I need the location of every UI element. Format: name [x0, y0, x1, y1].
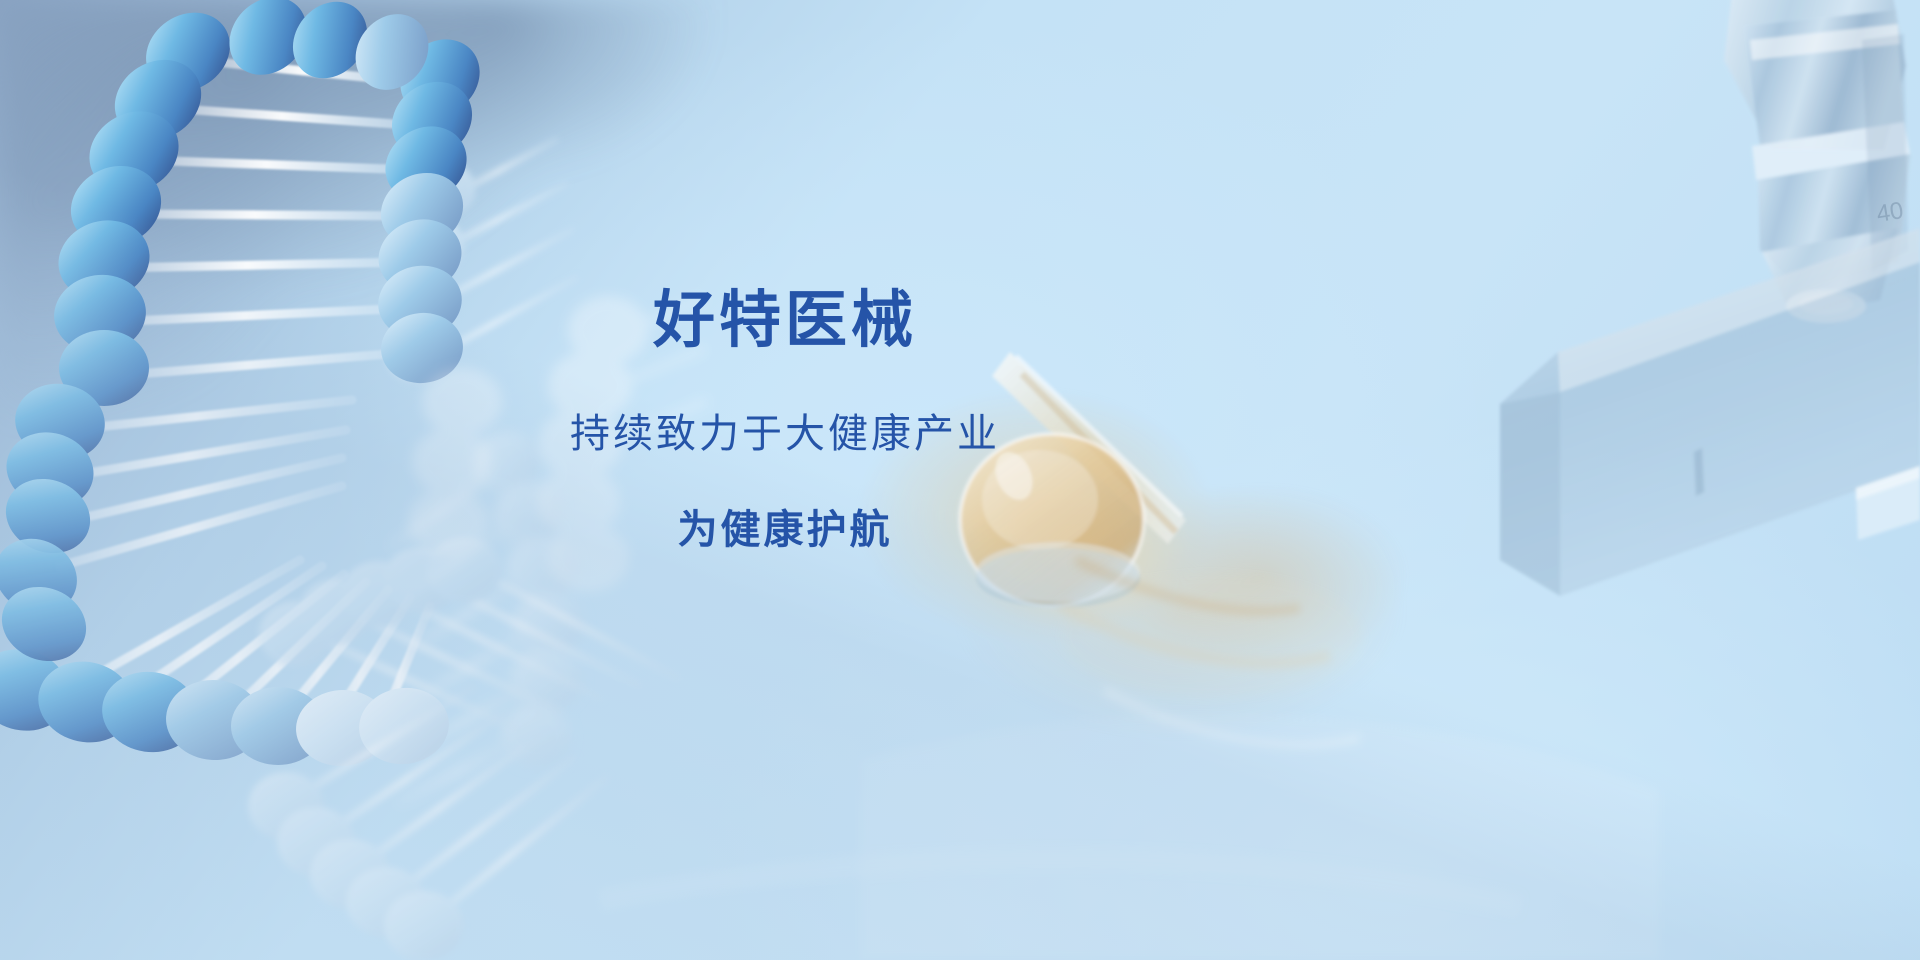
objective-magnification-label: 40	[1875, 197, 1906, 228]
hero-subtitle: 持续致力于大健康产业	[0, 414, 1570, 454]
hero-tagline: 为健康护航	[0, 510, 1570, 550]
lab-beaker-rim	[1060, 560, 1362, 745]
page-title: 好特医械	[0, 290, 1570, 352]
microscope-objective-lens	[1724, 0, 1910, 323]
hero-banner: 40	[0, 0, 1920, 960]
hero-text-block: 好特医械 持续致力于大健康产业 为健康护航	[0, 290, 1570, 550]
svg-text:40: 40	[1875, 197, 1906, 228]
